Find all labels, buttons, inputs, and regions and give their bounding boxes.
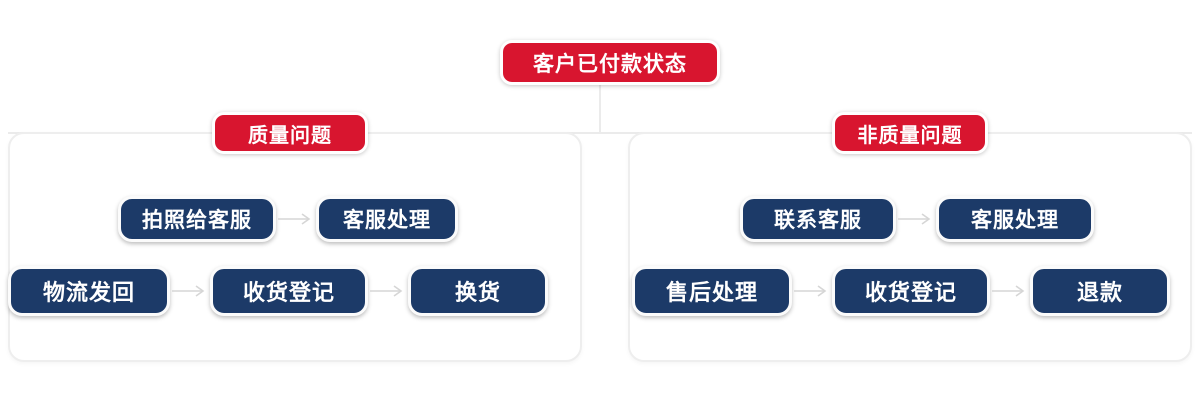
flow-row-non-quality-1: 联系客服 客服处理 <box>740 196 1094 242</box>
arrow-right-icon <box>368 281 408 301</box>
arrow-right-icon <box>170 281 210 301</box>
group-box-quality <box>8 132 582 362</box>
arrow-right-icon <box>896 209 936 229</box>
node-logistics-return[interactable]: 物流发回 <box>8 266 170 316</box>
node-support-handling-1[interactable]: 客服处理 <box>316 196 458 242</box>
connector-root-vertical <box>599 84 601 133</box>
node-refund[interactable]: 退款 <box>1030 266 1170 316</box>
node-receipt-registration-1[interactable]: 收货登记 <box>210 266 368 316</box>
node-contact-support[interactable]: 联系客服 <box>740 196 896 242</box>
node-photo-to-support[interactable]: 拍照给客服 <box>118 196 276 242</box>
node-after-sales-handling[interactable]: 售后处理 <box>632 266 792 316</box>
root-node[interactable]: 客户已付款状态 <box>500 40 720 85</box>
group-badge-non-quality[interactable]: 非质量问题 <box>832 112 988 154</box>
flow-row-quality-1: 拍照给客服 客服处理 <box>118 196 458 242</box>
node-exchange-goods[interactable]: 换货 <box>408 266 548 316</box>
arrow-right-icon <box>792 281 832 301</box>
flow-row-quality-2: 物流发回 收货登记 换货 <box>8 266 548 316</box>
flowchart-canvas: 客户已付款状态 质量问题 拍照给客服 客服处理 物流发回 收货登记 <box>0 0 1200 400</box>
arrow-right-icon <box>990 281 1030 301</box>
arrow-right-icon <box>276 209 316 229</box>
node-support-handling-2[interactable]: 客服处理 <box>936 196 1094 242</box>
node-receipt-registration-2[interactable]: 收货登记 <box>832 266 990 316</box>
group-badge-quality[interactable]: 质量问题 <box>212 112 368 154</box>
group-box-non-quality <box>628 132 1192 362</box>
flow-row-non-quality-2: 售后处理 收货登记 退款 <box>632 266 1170 316</box>
